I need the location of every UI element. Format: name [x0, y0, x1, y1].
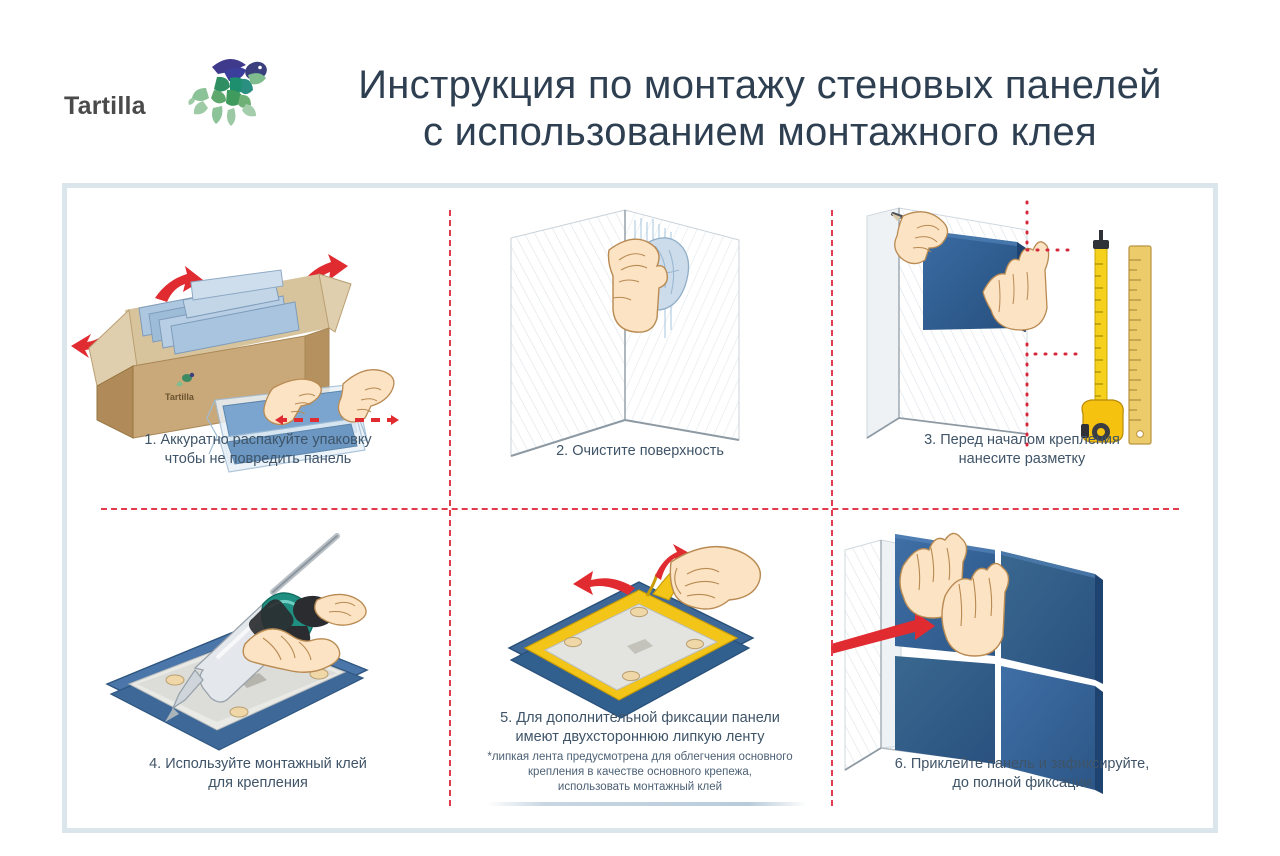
poster-root: { "brand": { "name": "Tartilla", "logo_i…: [0, 0, 1280, 856]
page-title: Инструкция по монтажу стеновых панелей с…: [280, 62, 1240, 156]
step-1-caption-line-1: 1. Аккуратно распакуйте упаковку: [144, 432, 371, 448]
step-1-caption-line-2: чтобы не повредить панель: [165, 451, 352, 467]
turtle-logo-icon: [186, 48, 278, 140]
step-1-caption: 1. Аккуратно распакуйте упаковку чтобы н…: [73, 431, 443, 469]
step-5-fineprint-line-1: *липкая лента предусмотрена для облегчен…: [487, 751, 792, 763]
step-5-fineprint-line-2: крепления в качестве основного крепежа,: [528, 766, 752, 778]
brand-name: Tartilla: [64, 92, 146, 121]
step-5-fineprint: *липкая лента предусмотрена для облегчен…: [455, 750, 825, 795]
tape-measure-icon: [1081, 230, 1123, 442]
hand-icon: [670, 547, 760, 609]
accent-underline: [487, 802, 807, 806]
step-5-fineprint-line-3: использовать монтажный клей: [558, 781, 722, 793]
poster-header: Tartilla Инструкция п: [0, 0, 1280, 175]
step-cell-5: 5. Для дополнительной фиксации панели им…: [449, 508, 831, 828]
box-label: Tartilla: [165, 392, 195, 402]
divider-vertical-left: [449, 210, 451, 806]
step-3-caption-line-2: нанесите разметку: [959, 451, 1086, 467]
step-cell-6: 6. Приклейте панель и зафиксируйте, до п…: [831, 508, 1213, 828]
page-title-line-2: с использованием монтажного клея: [280, 109, 1240, 156]
step-5-caption-line-2: имеют двухстороннюю липкую ленту: [516, 729, 765, 745]
step-2-caption: 2. Очистите поверхность: [455, 442, 825, 461]
step-cell-4: 4. Используйте монтажный клей для крепле…: [67, 508, 449, 828]
step-5-caption: 5. Для дополнительной фиксации панели им…: [455, 709, 825, 795]
step-3-caption: 3. Перед началом крепления нанесите разм…: [837, 431, 1207, 469]
step-cell-3: 3. Перед началом крепления нанесите разм…: [831, 188, 1213, 508]
step-6-caption: 6. Приклейте панель и зафиксируйте, до п…: [837, 755, 1207, 793]
instruction-frame: Tartilla: [62, 183, 1218, 833]
step-cell-1: Tartilla: [67, 188, 449, 508]
page-title-line-1: Инструкция по монтажу стеновых панелей: [280, 62, 1240, 109]
divider-vertical-right: [831, 210, 833, 806]
hand-right-icon: [338, 370, 393, 422]
wooden-ruler-icon: [1129, 246, 1151, 444]
step-6-caption-line-1: 6. Приклейте панель и зафиксируйте,: [895, 756, 1150, 772]
step-6-caption-line-2: до полной фиксации: [952, 775, 1091, 791]
step-4-caption-line-2: для крепления: [208, 775, 308, 791]
divider-horizontal: [101, 508, 1179, 510]
step-4-caption: 4. Используйте монтажный клей для крепле…: [73, 755, 443, 793]
step-4-caption-line-1: 4. Используйте монтажный клей: [149, 756, 367, 772]
step-2-caption-line-1: 2. Очистите поверхность: [556, 443, 724, 459]
step-cell-2: 2. Очистите поверхность: [449, 188, 831, 508]
step-5-caption-line-1: 5. Для дополнительной фиксации панели: [500, 710, 780, 726]
step-3-caption-line-1: 3. Перед началом крепления: [924, 432, 1120, 448]
